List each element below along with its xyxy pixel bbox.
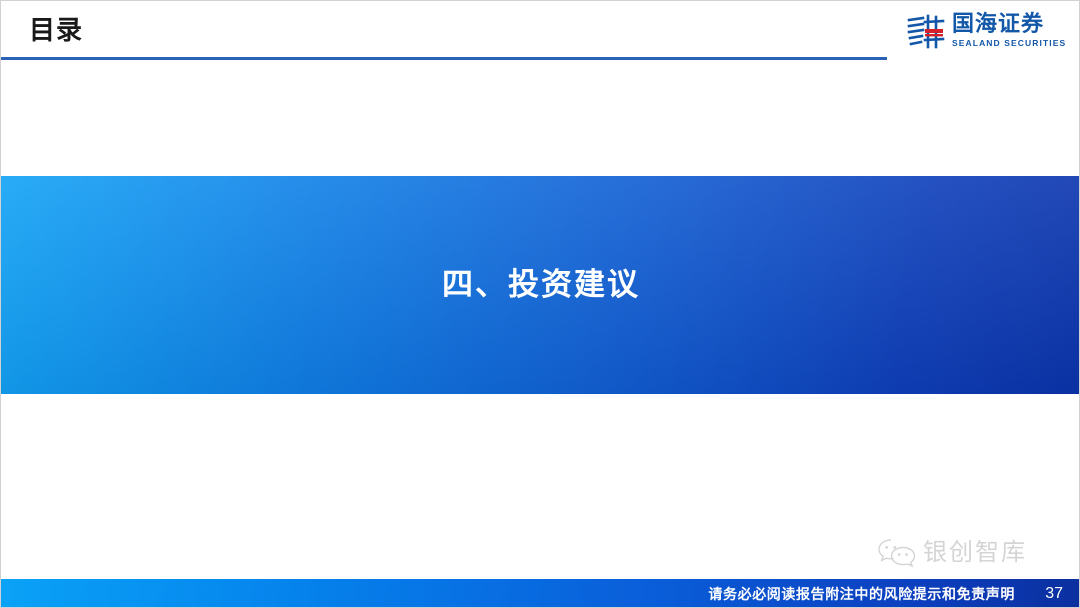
wechat-icon bbox=[877, 537, 917, 569]
logo-name-en: SEALAND SECURITIES bbox=[952, 37, 1078, 49]
company-logo: 国海证券 SEALAND SECURITIES bbox=[906, 11, 1076, 55]
watermark-label: 银创智库 bbox=[923, 538, 1027, 568]
section-title: 四、投资建议 bbox=[442, 265, 640, 305]
watermark: 银创智库 bbox=[877, 531, 1075, 575]
slide-footer: 请务必必阅读报告附注中的风险提示和免责声明 37 bbox=[1, 579, 1080, 608]
logo-text: 国海证券 SEALAND SECURITIES bbox=[952, 11, 1078, 49]
header-divider bbox=[1, 57, 887, 60]
page-number: 37 bbox=[1045, 579, 1063, 608]
footer-disclaimer: 请务必必阅读报告附注中的风险提示和免责声明 bbox=[708, 579, 1015, 608]
logo-name-cn: 国海证券 bbox=[952, 11, 1078, 37]
sealand-emblem-icon bbox=[906, 13, 946, 51]
presentation-slide: 目录 bbox=[0, 0, 1080, 608]
section-banner: 四、投资建议 bbox=[1, 176, 1080, 394]
section-banner-text-wrap: 四、投资建议 bbox=[1, 176, 1080, 394]
page-title: 目录 bbox=[29, 13, 83, 47]
